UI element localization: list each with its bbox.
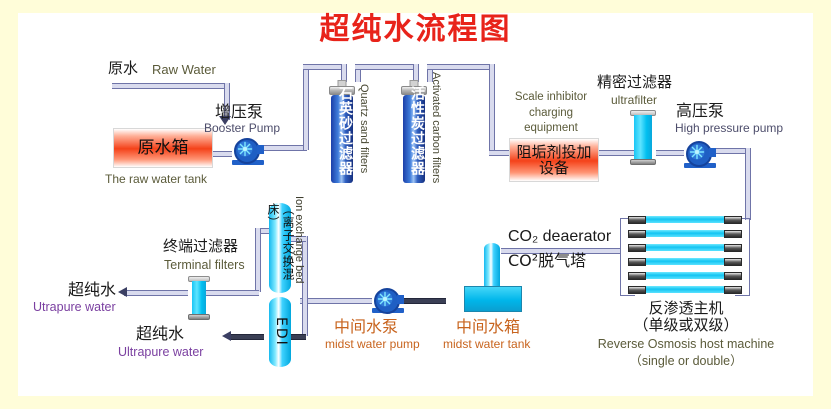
ro-host-cn-line1: 反渗透主机 <box>608 300 764 317</box>
ro-cap-left <box>628 258 646 266</box>
scale-inhibitor-en-line2: charging <box>505 106 597 122</box>
activated-carbon-filter-label-cn: 活性炭过滤器 <box>401 86 427 176</box>
pump-outlet <box>709 148 716 157</box>
ro-membrane-row <box>628 216 742 224</box>
pipe-hp-right <box>713 148 749 154</box>
pump-impeller-icon <box>237 141 253 157</box>
pipe-edi-outlet <box>230 334 264 340</box>
page-title: 超纯水流程图 <box>0 4 831 48</box>
ro-cap-right <box>724 244 742 252</box>
filter-body <box>634 115 652 160</box>
ro-cap-right <box>724 230 742 238</box>
pump-outlet <box>397 295 404 304</box>
pipe-into-scale-inhibitor <box>489 150 511 156</box>
ro-host-cn-line2: （单级或双级） <box>608 317 764 334</box>
ultrapure-out-bottom-label-en: Ultrapure water <box>118 345 203 359</box>
raw-water-inlet-label-en: Raw Water <box>152 63 216 78</box>
edi-unit[interactable]: EDI <box>269 297 291 367</box>
pipe-ionbed-down <box>255 228 261 292</box>
pipe-edi-feed-v <box>302 300 308 336</box>
filter-body <box>192 281 206 315</box>
terminal-filter-label-en: Terminal filters <box>164 258 245 272</box>
pump-icon-booster[interactable] <box>232 138 264 165</box>
raw-water-tank-label-en: The raw water tank <box>105 173 207 186</box>
midst-water-tank-label-en: midst water tank <box>443 338 530 351</box>
ro-membrane-row <box>628 258 742 266</box>
ultrafilter-label-en: ultrafilter <box>611 94 657 107</box>
quartz-sand-filter-label-cn: 石英砂过滤器 <box>329 86 355 176</box>
pipe-ultrapure-top <box>124 290 188 296</box>
ion-exchange-bed-label-cn: （离子交换混床） <box>265 203 295 293</box>
ro-cap-right <box>724 258 742 266</box>
raw-water-inlet-label-cn: 原水 <box>108 60 138 77</box>
ro-cap-right <box>724 286 742 294</box>
ro-membrane-row <box>628 244 742 252</box>
ro-host-machine[interactable] <box>628 214 742 298</box>
pipe-quartz-to-carbon <box>355 64 417 70</box>
ultrafilter-unit[interactable] <box>630 110 656 165</box>
pump-icon-midst-water[interactable] <box>372 288 404 313</box>
high-pressure-pump-label-en: High pressure pump <box>675 122 783 135</box>
quartz-sand-filter[interactable]: 石英砂过滤器 <box>329 80 355 183</box>
pipe-midstpump-left <box>300 298 372 304</box>
filter-bottom-cap <box>188 314 210 320</box>
ro-cap-left <box>628 216 646 224</box>
ultrafilter-label-cn: 精密过滤器 <box>597 74 672 91</box>
ro-membrane-row <box>628 286 742 294</box>
pipe-booster-right <box>263 145 307 151</box>
pump-icon-high-pressure[interactable] <box>684 141 716 168</box>
ro-host-label-cn: 反渗透主机 （单级或双级） <box>608 300 764 334</box>
scale-inhibitor-label-en: Scale inhibitor charging equipment <box>505 90 597 137</box>
co2-deaerator-label-cn: CO²脱气塔 <box>508 252 586 270</box>
pipe-tank-to-midstpump <box>404 298 446 304</box>
arrow-ultrapure-bottom <box>222 331 231 341</box>
ro-cap-left <box>628 230 646 238</box>
edi-label-wrap: EDI <box>269 297 291 367</box>
ro-cap-right <box>724 272 742 280</box>
pipe-carbon-down <box>489 64 495 154</box>
ro-host-en-line2: （single or double） <box>578 353 794 370</box>
edi-label: EDI <box>271 317 289 347</box>
ro-membrane-row <box>628 230 742 238</box>
ultrapure-out-top-label-en: Utrapure water <box>33 300 116 314</box>
booster-pump-label-cn: 增压泵 <box>215 103 263 121</box>
ro-tube <box>646 272 724 279</box>
ro-tube <box>646 216 724 223</box>
ro-cap-left <box>628 272 646 280</box>
pipe-raw-inlet-h <box>112 83 230 89</box>
ro-tube <box>646 244 724 251</box>
ro-cap-left <box>628 286 646 294</box>
high-pressure-pump-label-cn: 高压泵 <box>676 102 724 120</box>
midst-water-tank-label-cn: 中间水箱 <box>456 318 520 336</box>
co2-deaerator-label-en: CO₂ deaerator <box>508 228 611 246</box>
quartz-sand-filter-label-en: Quartz sand filters <box>358 84 370 173</box>
terminal-filter-label-cn: 终端过滤器 <box>163 238 238 255</box>
pipe-carbon-right <box>427 64 493 70</box>
scale-inhibitor-en-line3: equipment <box>505 121 597 137</box>
booster-pump-label-en: Booster Pump <box>204 122 280 135</box>
ro-cap-left <box>628 244 646 252</box>
scale-inhibitor-equipment[interactable]: 阻垢剂投加设备 <box>509 138 599 182</box>
pipe-to-terminal-filter <box>206 290 259 296</box>
pump-impeller-icon <box>689 144 705 160</box>
ultrapure-out-top-label-cn: 超纯水 <box>68 281 116 299</box>
activated-carbon-filter-label-en: Activated carbon filters <box>430 72 442 183</box>
ion-exchange-bed-label-en: Ion exchange bed <box>293 196 305 283</box>
filter-bottom-cap <box>630 159 656 165</box>
activated-carbon-filter[interactable]: 活性炭过滤器 <box>401 80 427 183</box>
ultrapure-out-bottom-label-cn: 超纯水 <box>136 325 184 343</box>
midst-water-tank[interactable] <box>464 286 522 312</box>
ro-membrane-row <box>628 272 742 280</box>
midst-water-pump-label-en: midst water pump <box>325 338 420 351</box>
midst-water-pump-label-cn: 中间水泵 <box>334 318 398 336</box>
pump-outlet <box>257 145 264 154</box>
scale-inhibitor-en-line1: Scale inhibitor <box>505 90 597 106</box>
terminal-filter-unit[interactable] <box>188 276 210 320</box>
ro-host-label-en: Reverse Osmosis host machine （single or … <box>578 336 794 370</box>
ro-tube <box>646 286 724 293</box>
ro-host-en-line1: Reverse Osmosis host machine <box>578 336 794 353</box>
pipe-hp-down-to-ro <box>745 148 751 220</box>
ro-tube <box>646 230 724 237</box>
pump-impeller-icon <box>377 291 393 307</box>
ion-exchange-bed[interactable]: （离子交换混床） <box>269 203 291 293</box>
ro-cap-right <box>724 216 742 224</box>
pipe-booster-up <box>303 64 309 150</box>
ro-tube <box>646 258 724 265</box>
arrow-ultrapure-top <box>118 287 127 297</box>
pipe-ultrafilter-to-hp <box>656 150 684 156</box>
raw-water-tank[interactable]: 原水箱 <box>113 128 213 168</box>
pipe-to-quartz-top <box>303 64 345 70</box>
ion-exchange-bed-label-wrap: （离子交换混床） <box>269 203 291 293</box>
